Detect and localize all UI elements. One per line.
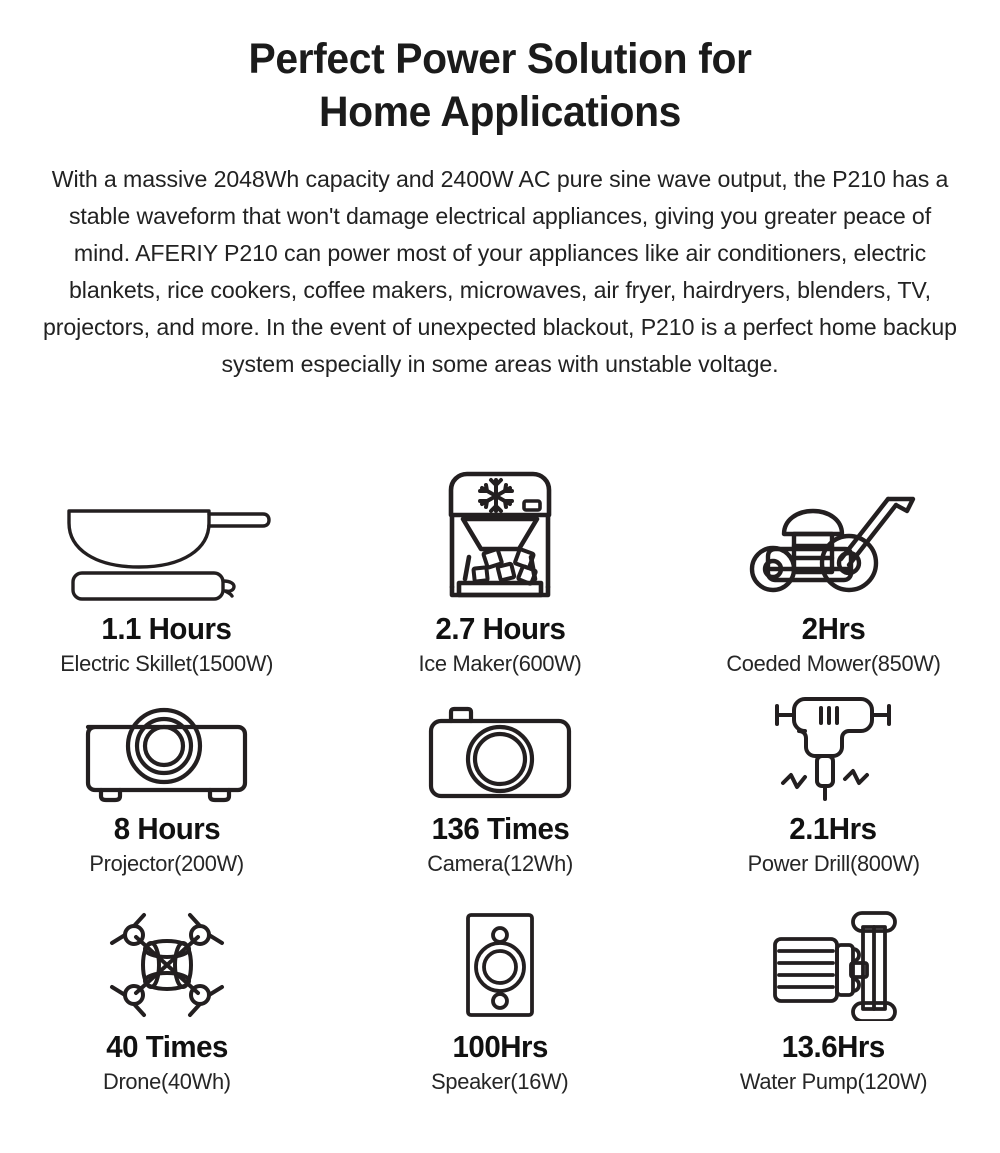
appliance-runtime-value: 1.1 Hours (102, 611, 232, 647)
appliance-runtime-value: 2.7 Hours (435, 611, 565, 647)
appliance-caption: Camera(12Wh) (427, 850, 573, 878)
appliance-card-ice-maker: 2.7 Hours Ice Maker(600W) (333, 465, 666, 683)
appliance-runtime-value: 13.6Hrs (782, 1029, 885, 1065)
appliance-runtime-value: 8 Hours (114, 811, 220, 847)
appliance-runtime-grid: 1.1 Hours Electric Skillet(1500W) (0, 465, 1000, 1119)
page-title-line-1: Perfect Power Solution for (25, 33, 975, 86)
appliance-caption: Power Drill(800W) (747, 850, 919, 878)
lawn-mower-icon (745, 465, 921, 603)
appliance-runtime-value: 2.1Hrs (790, 811, 877, 847)
appliance-caption: Drone(40Wh) (103, 1068, 231, 1096)
snowflake-icon (480, 480, 512, 511)
appliance-runtime-value: 40 Times (106, 1029, 228, 1065)
appliance-runtime-value: 2Hrs (802, 611, 866, 647)
appliance-caption: Projector(200W) (89, 850, 244, 878)
ice-maker-icon (441, 465, 559, 603)
appliance-caption: Coeded Mower(850W) (726, 650, 940, 678)
appliance-card-lawn-mower: 2Hrs Coeded Mower(850W) (667, 465, 1000, 683)
appliance-caption: Electric Skillet(1500W) (60, 650, 273, 678)
camera-icon (421, 683, 579, 803)
intro-paragraph: With a massive 2048Wh capacity and 2400W… (42, 161, 958, 383)
appliance-runtime-value: 136 Times (431, 811, 569, 847)
page-title-line-2: Home Applications (25, 86, 975, 139)
product-feature-page: Perfect Power Solution for Home Applicat… (0, 0, 1000, 1153)
speaker-icon (459, 901, 541, 1021)
appliance-runtime-value: 100Hrs (452, 1029, 547, 1065)
drone-icon (106, 901, 228, 1021)
appliance-caption: Speaker(16W) (431, 1068, 568, 1096)
appliance-card-drone: 40 Times Drone(40Wh) (0, 901, 333, 1119)
water-pump-icon (765, 901, 901, 1021)
electric-skillet-icon (59, 465, 275, 603)
projector-icon (74, 683, 260, 803)
appliance-card-water-pump: 13.6Hrs Water Pump(120W) (667, 901, 1000, 1119)
appliance-card-power-drill: 2.1Hrs Power Drill(800W) (667, 683, 1000, 901)
appliance-card-camera: 136 Times Camera(12Wh) (333, 683, 666, 901)
appliance-caption: Ice Maker(600W) (418, 650, 581, 678)
appliance-card-projector: 8 Hours Projector(200W) (0, 683, 333, 901)
page-title: Perfect Power Solution for Home Applicat… (0, 0, 1000, 139)
appliance-card-speaker: 100Hrs Speaker(16W) (333, 901, 666, 1119)
appliance-card-electric-skillet: 1.1 Hours Electric Skillet(1500W) (0, 465, 333, 683)
appliance-caption: Water Pump(120W) (740, 1068, 927, 1096)
power-drill-icon (763, 683, 903, 803)
